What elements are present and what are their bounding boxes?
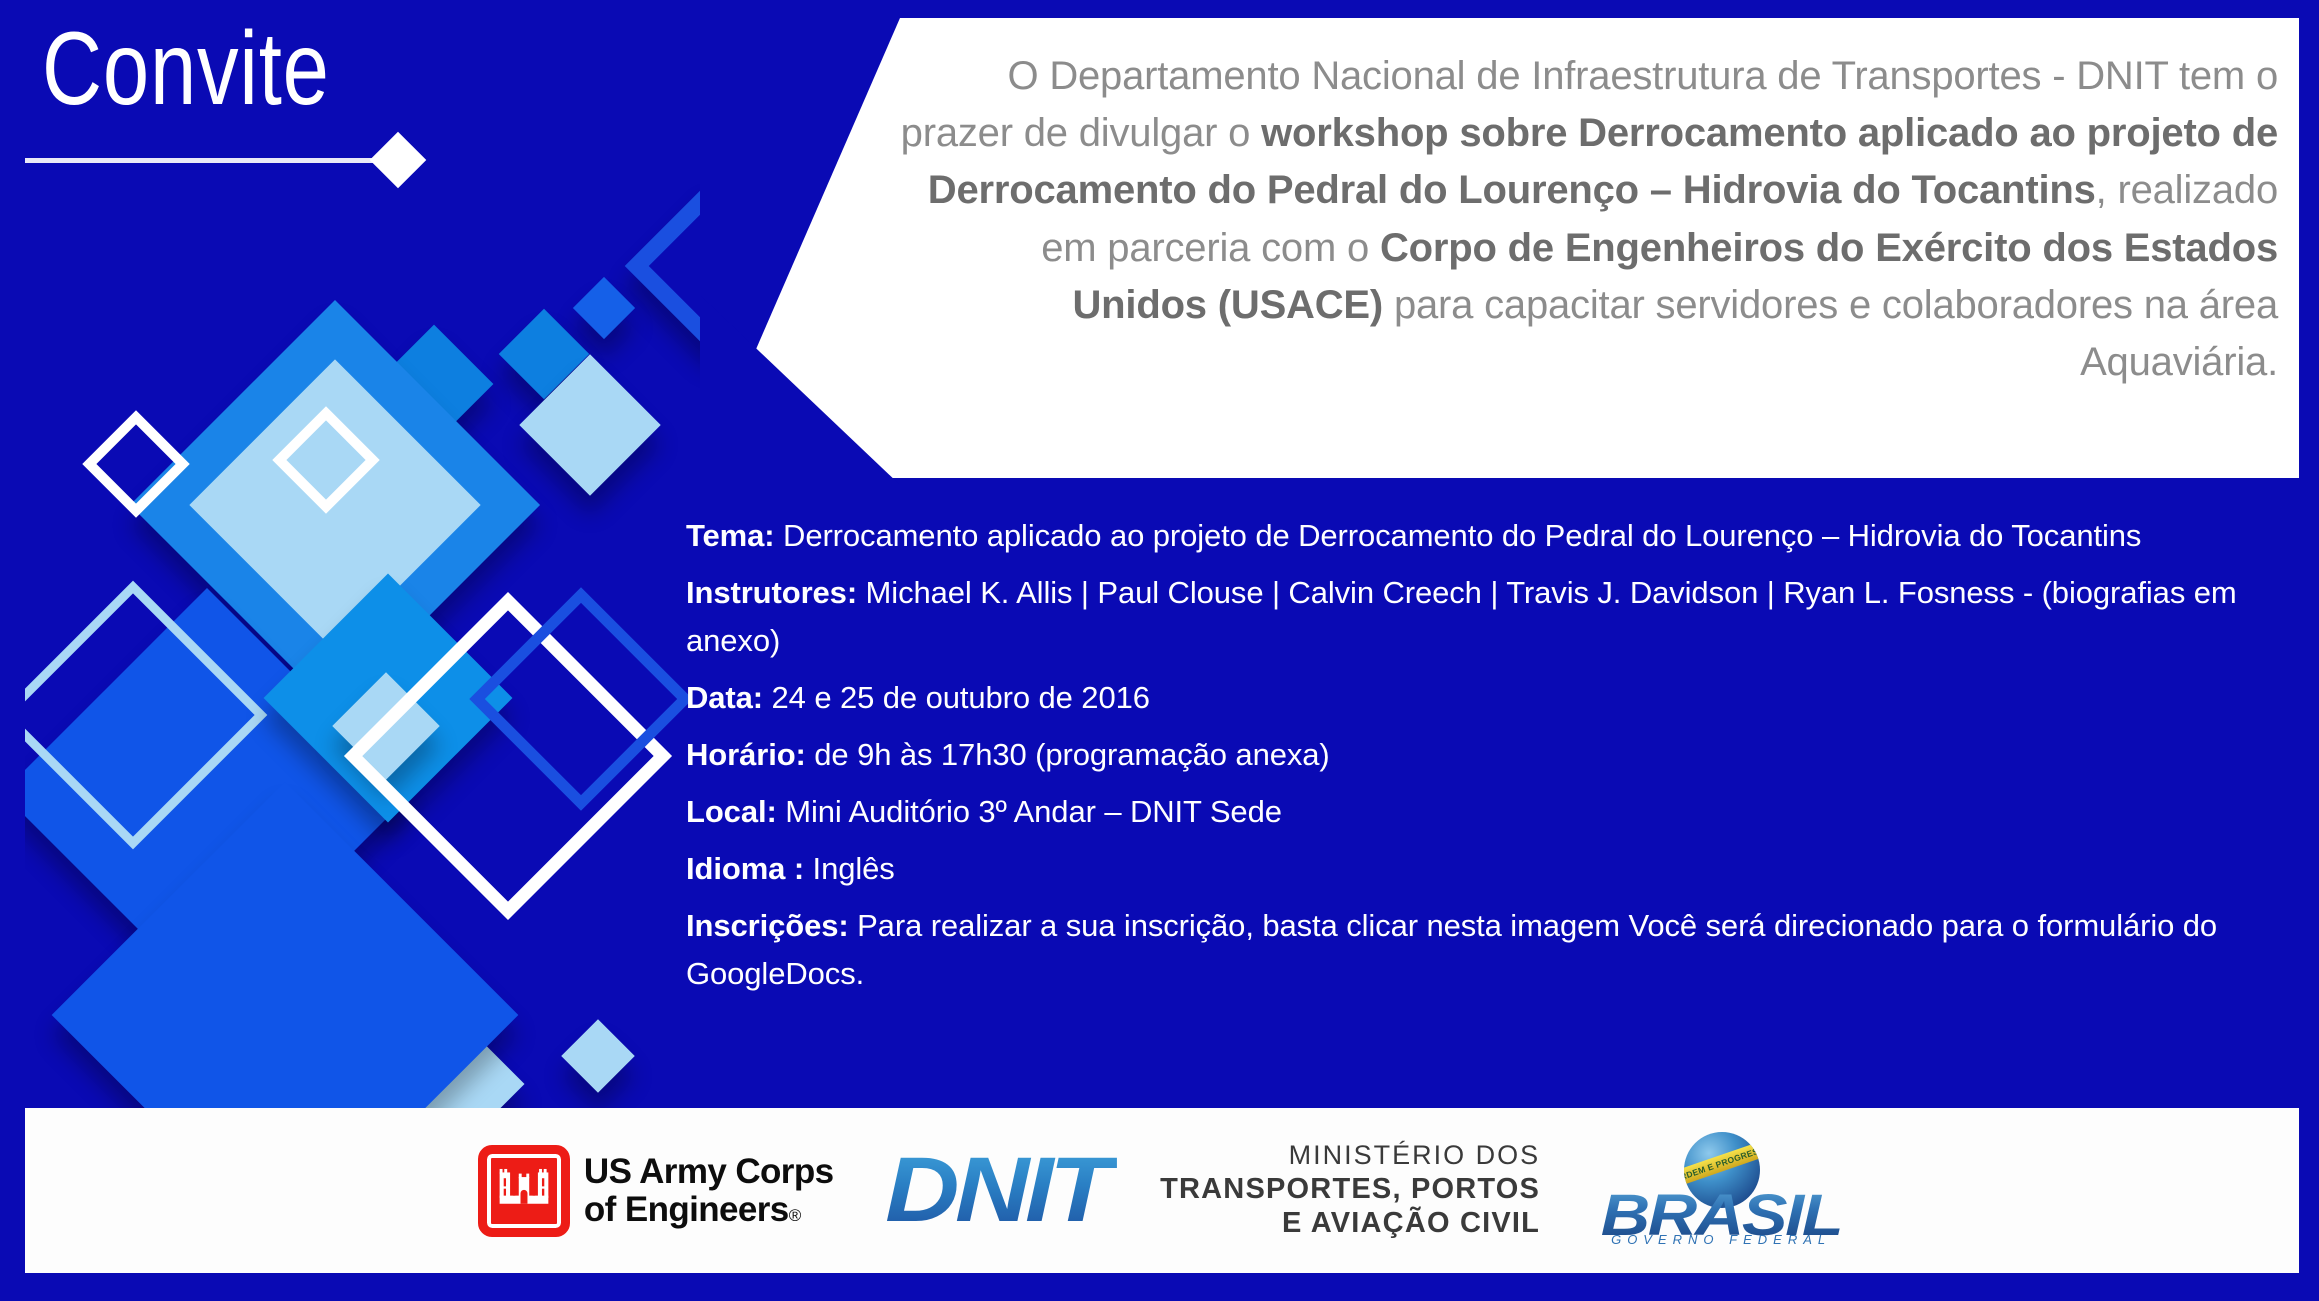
diamond-outline-white-right (272, 406, 379, 513)
usace-wordmark: US Army Corps of Engineers® (584, 1153, 834, 1229)
registered-mark-icon: ® (789, 1206, 801, 1225)
frame-right (2299, 0, 2319, 1301)
detail-value: 24 e 25 de outubro de 2016 (763, 680, 1150, 715)
title-rule (0, 158, 390, 163)
diamond-outline-light-lowerleft (0, 581, 267, 850)
detail-row-inscricoes[interactable]: Inscrições: Para realizar a sua inscriçã… (686, 902, 2287, 998)
detail-label: Tema: (686, 518, 775, 553)
ministry-line2: TRANSPORTES, PORTOS (1160, 1172, 1540, 1206)
usace-line2: of Engineers (584, 1190, 789, 1229)
globe-band-text: ORDEM E PROGRESSO (1684, 1142, 1760, 1185)
diamond-royal-lower-left (2, 588, 412, 998)
detail-label: Horário: (686, 737, 806, 772)
brasil-government-logo: ORDEM E PROGRESSO BRASIL GOVERNO FEDERAL (1596, 1132, 1846, 1250)
detail-label: Local: (686, 794, 777, 829)
detail-label: Instrutores: (686, 575, 857, 610)
castle-glyph (495, 1162, 553, 1207)
detail-row-local: Local: Mini Auditório 3º Andar – DNIT Se… (686, 788, 2287, 836)
diamond-light-tiny (561, 1019, 635, 1093)
title-diamond-icon (370, 132, 427, 189)
detail-row-horario: Horário: de 9h às 17h30 (programação ane… (686, 731, 2287, 779)
detail-value: Derrocamento aplicado ao projeto de Derr… (775, 518, 2142, 553)
invitation-poster: O Departamento Nacional de Infraestrutur… (0, 0, 2319, 1301)
footer-logo-band: US Army Corps of Engineers® DNIT MINISTÉ… (25, 1108, 2299, 1273)
globe-band: ORDEM E PROGRESSO (1684, 1140, 1760, 1186)
detail-value: Michael K. Allis | Paul Clouse | Calvin … (686, 575, 2237, 658)
diamond-lightblue-right (519, 354, 660, 495)
usace-castle-icon (478, 1145, 570, 1237)
brasil-subtitle: GOVERNO FEDERAL (1596, 1232, 1846, 1247)
detail-label: Data: (686, 680, 763, 715)
diamond-large-midblue (130, 300, 540, 710)
diamond-small-b (499, 309, 590, 400)
detail-value: de 9h às 17h30 (programação anexa) (806, 737, 1330, 772)
diamond-light-bottom-center (332, 672, 439, 779)
header-run-4: para capacitar servidores e colaboradore… (1383, 283, 2278, 384)
usace-line1: US Army Corps (584, 1153, 834, 1191)
detail-list: Tema: Derrocamento aplicado ao projeto d… (686, 512, 2287, 1007)
detail-row-idioma: Idioma : Inglês (686, 845, 2287, 893)
ministry-line1: MINISTÉRIO DOS (1160, 1140, 1540, 1172)
detail-row-tema: Tema: Derrocamento aplicado ao projeto d… (686, 512, 2287, 560)
detail-value: Para realizar a sua inscrição, basta cli… (686, 908, 2217, 991)
diamond-small-c (375, 325, 494, 444)
diamond-outline-royal-lower (469, 587, 692, 810)
diamond-outline-white-lower (344, 592, 672, 920)
detail-value: Inglês (804, 851, 895, 886)
header-paragraph: O Departamento Nacional de Infraestrutur… (900, 48, 2278, 391)
page-title: Convite (42, 17, 330, 121)
ministry-line3: E AVIAÇÃO CIVIL (1160, 1206, 1540, 1240)
diamond-outline-white-left (82, 410, 189, 517)
detail-label: Inscrições: (686, 908, 849, 943)
detail-row-data: Data: 24 e 25 de outubro de 2016 (686, 674, 2287, 722)
frame-bottom (0, 1273, 2319, 1301)
dnit-logo: DNIT (877, 1138, 1117, 1243)
diamond-small-a (573, 277, 635, 339)
detail-label: Idioma : (686, 851, 804, 886)
diamond-bright-center (264, 574, 513, 823)
diamond-large-inner-light (189, 359, 480, 650)
detail-row-instrutores: Instrutores: Michael K. Allis | Paul Clo… (686, 569, 2287, 665)
frame-left (0, 0, 25, 1301)
ministry-wordmark: MINISTÉRIO DOS TRANSPORTES, PORTOS E AVI… (1160, 1140, 1540, 1240)
detail-value: Mini Auditório 3º Andar – DNIT Sede (777, 794, 1282, 829)
usace-logo: US Army Corps of Engineers® (478, 1145, 834, 1237)
